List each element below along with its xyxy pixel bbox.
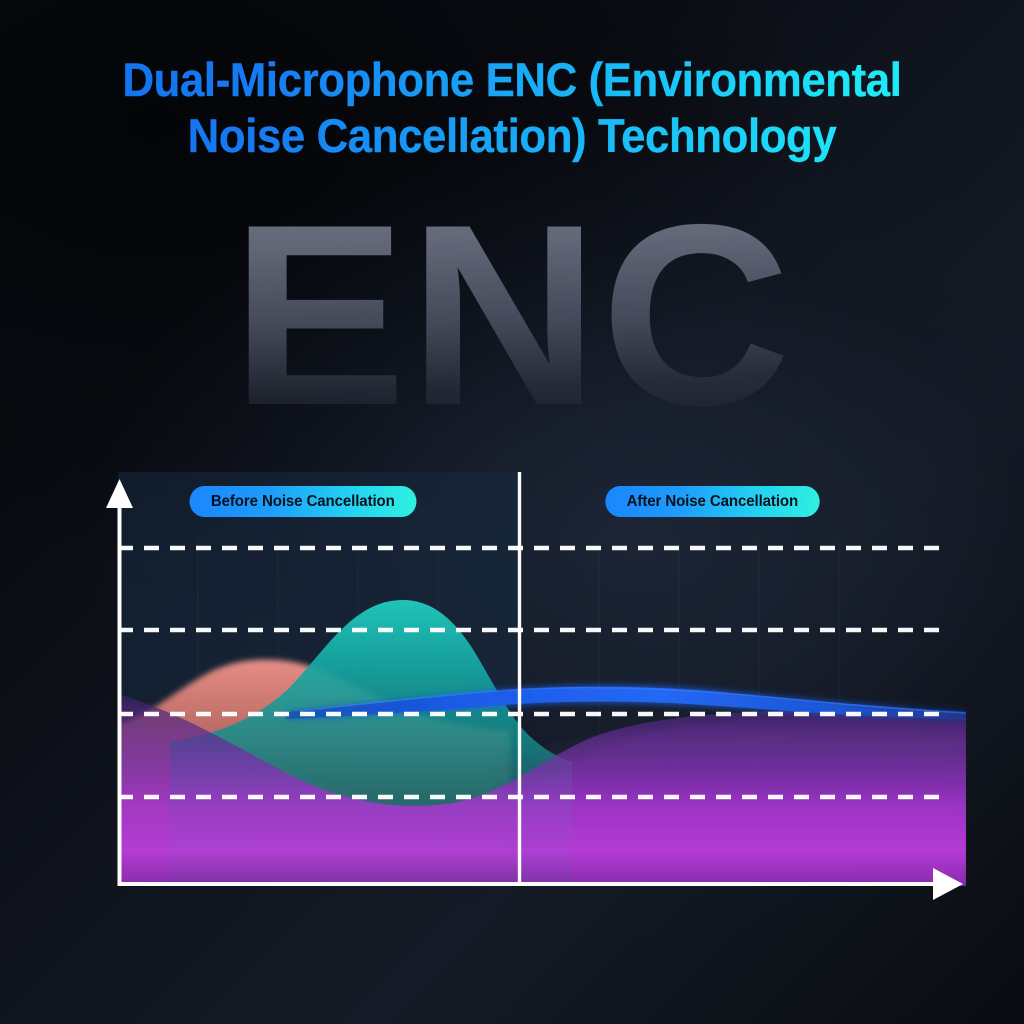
badge-after-label: After Noise Cancellation — [627, 493, 798, 511]
noise-cancellation-chart — [0, 0, 1024, 1024]
badge-after-noise-cancellation[interactable]: After Noise Cancellation — [605, 486, 819, 517]
enc-infographic: Dual-Microphone ENC (Environmental Noise… — [0, 0, 1024, 1024]
badge-before-label: Before Noise Cancellation — [211, 493, 395, 511]
badge-before-noise-cancellation[interactable]: Before Noise Cancellation — [190, 486, 417, 517]
wave-purple-haze — [500, 730, 966, 800]
